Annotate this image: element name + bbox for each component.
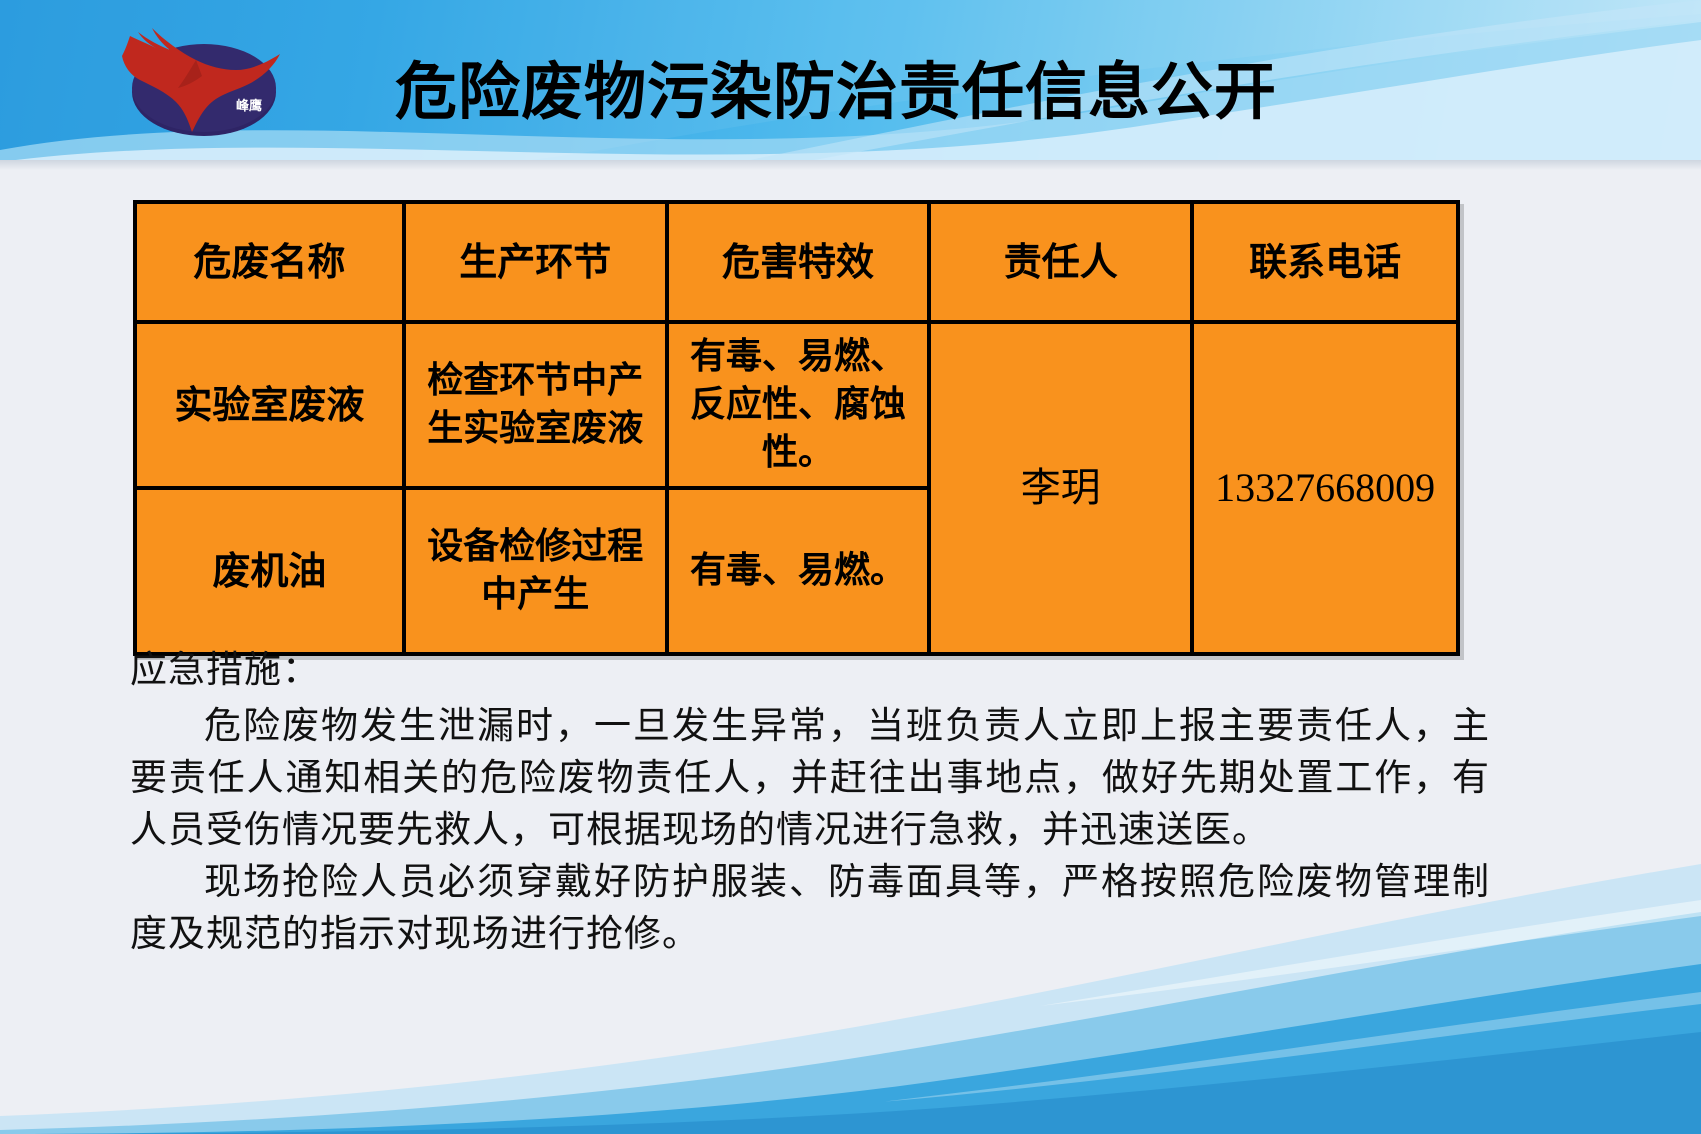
column-header-process: 生产环节 [404, 202, 667, 322]
table-row: 实验室废液 检查环节中产生实验室废液 有毒、易燃、反应性、腐蚀性。 李玥 133… [135, 322, 1458, 488]
banner-shadow [0, 160, 1701, 170]
emergency-measures-section: 应急措施： 危险废物发生泄漏时，一旦发生异常，当班负责人立即上报主要责任人，主要… [130, 645, 1490, 961]
emergency-paragraph-1: 危险废物发生泄漏时，一旦发生异常，当班负责人立即上报主要责任人，主要责任人通知相… [130, 701, 1490, 857]
svg-text:峰鹰: 峰鹰 [236, 98, 262, 114]
eagle-logo: 峰鹰 [104, 14, 290, 146]
cell-waste-name: 实验室废液 [135, 322, 404, 488]
cell-hazard: 有毒、易燃。 [667, 488, 930, 654]
column-header-waste-name: 危废名称 [135, 202, 404, 322]
page-title: 危险废物污染防治责任信息公开 [395, 55, 1395, 129]
table-header-row: 危废名称 生产环节 危害特效 责任人 联系电话 [135, 202, 1458, 322]
emergency-paragraph-2: 现场抢险人员必须穿戴好防护服装、防毒面具等，严格按照危险废物管理制度及规范的指示… [130, 857, 1490, 961]
cell-hazard: 有毒、易燃、反应性、腐蚀性。 [667, 322, 930, 488]
column-header-phone: 联系电话 [1192, 202, 1458, 322]
slide-root: 峰鹰 危险废物污染防治责任信息公开 危废名称 生产环节 危害特效 责任人 联系电… [0, 0, 1701, 1134]
hazardous-waste-table: 危废名称 生产环节 危害特效 责任人 联系电话 实验室废液 检查环节中产生实验室… [133, 200, 1460, 656]
column-header-responsible: 责任人 [929, 202, 1192, 322]
emergency-heading: 应急措施： [130, 645, 1490, 697]
cell-process: 检查环节中产生实验室废液 [404, 322, 667, 488]
cell-waste-name: 废机油 [135, 488, 404, 654]
cell-responsible-person: 李玥 [929, 322, 1192, 654]
cell-process: 设备检修过程中产生 [404, 488, 667, 654]
column-header-hazard: 危害特效 [667, 202, 930, 322]
cell-contact-phone: 13327668009 [1192, 322, 1458, 654]
hazardous-waste-table-wrapper: 危废名称 生产环节 危害特效 责任人 联系电话 实验室废液 检查环节中产生实验室… [133, 200, 1460, 656]
